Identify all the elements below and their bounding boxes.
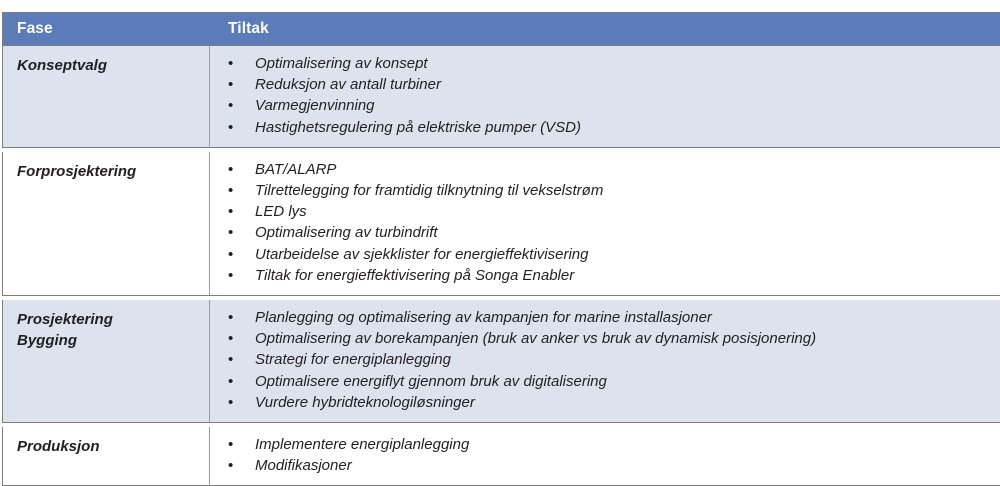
list-item: •Modifikasjoner: [223, 455, 1000, 476]
list-item: •Optimalisere energiflyt gjennom bruk av…: [223, 371, 1000, 392]
measure-text: Tilrettelegging for framtidig tilknytnin…: [255, 182, 603, 199]
bullet-icon: •: [228, 159, 233, 180]
measure-text: Utarbeidelse av sjekklister for energief…: [255, 246, 588, 263]
phase-label: Produksjon: [17, 436, 203, 457]
phase-label: Konseptvalg: [17, 55, 203, 76]
list-item: •Hastighetsregulering på elektriske pump…: [223, 117, 1000, 138]
bullet-icon: •: [228, 53, 233, 74]
measure-text: Hastighetsregulering på elektriske pumpe…: [255, 119, 581, 136]
measure-text: Optimalisering av borekampanjen (bruk av…: [255, 330, 816, 347]
bullet-icon: •: [228, 371, 233, 392]
cell-phase: Produksjon: [2, 427, 210, 486]
list-item: •Varmegjenvinning: [223, 95, 1000, 116]
measure-text: Vurdere hybridteknologiløsninger: [255, 394, 475, 411]
cell-measures: •BAT/ALARP•Tilrettelegging for framtidig…: [210, 152, 1000, 296]
phase-measures-table-wrapper: Fase Tiltak Konseptvalg•Optimalisering a…: [2, 12, 991, 486]
phase-label: Prosjektering Bygging: [17, 309, 203, 351]
bullet-icon: •: [228, 180, 233, 201]
measure-text: Implementere energiplanlegging: [255, 436, 469, 453]
bullet-icon: •: [228, 328, 233, 349]
phase-measures-table: Fase Tiltak Konseptvalg•Optimalisering a…: [2, 12, 1000, 486]
bullet-icon: •: [228, 244, 233, 265]
bullet-icon: •: [228, 95, 233, 116]
table-row: Produksjon•Implementere energiplanleggin…: [2, 427, 1000, 486]
bullet-icon: •: [228, 117, 233, 138]
list-item: •Optimalisering av borekampanjen (bruk a…: [223, 328, 1000, 349]
table-row: Forprosjektering•BAT/ALARP•Tilretteleggi…: [2, 152, 1000, 296]
list-item: •Optimalisering av turbindrift: [223, 222, 1000, 243]
measure-text: BAT/ALARP: [255, 161, 336, 178]
bullet-icon: •: [228, 349, 233, 370]
list-item: •Reduksjon av antall turbiner: [223, 74, 1000, 95]
bullet-icon: •: [228, 392, 233, 413]
bullet-icon: •: [228, 434, 233, 455]
list-item: •Tiltak for energieffektivisering på Son…: [223, 265, 1000, 286]
cell-measures: •Planlegging og optimalisering av kampan…: [210, 300, 1000, 423]
bullet-icon: •: [228, 455, 233, 476]
cell-phase: Prosjektering Bygging: [2, 300, 210, 423]
cell-phase: Konseptvalg: [2, 46, 210, 148]
measure-text: Optimalisering av konsept: [255, 55, 428, 72]
list-item: •Utarbeidelse av sjekklister for energie…: [223, 244, 1000, 265]
cell-phase: Forprosjektering: [2, 152, 210, 296]
column-header-fase: Fase: [2, 12, 210, 46]
cell-measures: •Optimalisering av konsept•Reduksjon av …: [210, 46, 1000, 148]
measure-text: Strategi for energiplanlegging: [255, 351, 451, 368]
measures-list: •Optimalisering av konsept•Reduksjon av …: [223, 53, 1000, 138]
measure-text: Varmegjenvinning: [255, 97, 375, 114]
list-item: •Optimalisering av konsept: [223, 53, 1000, 74]
list-item: •Implementere energiplanlegging: [223, 434, 1000, 455]
measure-text: LED lys: [255, 203, 307, 220]
table-row: Prosjektering Bygging•Planlegging og opt…: [2, 300, 1000, 423]
measure-text: Optimalisering av turbindrift: [255, 224, 438, 241]
table-header: Fase Tiltak: [2, 12, 1000, 46]
measure-text: Reduksjon av antall turbiner: [255, 76, 441, 93]
list-item: •Vurdere hybridteknologiløsninger: [223, 392, 1000, 413]
table-row: Konseptvalg•Optimalisering av konsept•Re…: [2, 46, 1000, 148]
measures-list: •Planlegging og optimalisering av kampan…: [223, 307, 1000, 413]
list-item: •LED lys: [223, 201, 1000, 222]
measures-list: •Implementere energiplanlegging•Modifika…: [223, 434, 1000, 476]
cell-measures: •Implementere energiplanlegging•Modifika…: [210, 427, 1000, 486]
bullet-icon: •: [228, 74, 233, 95]
bullet-icon: •: [228, 201, 233, 222]
column-header-tiltak: Tiltak: [210, 12, 1000, 46]
table-header-row: Fase Tiltak: [2, 12, 1000, 46]
measure-text: Optimalisere energiflyt gjennom bruk av …: [255, 373, 607, 390]
table-body: Konseptvalg•Optimalisering av konsept•Re…: [2, 46, 1000, 486]
bullet-icon: •: [228, 265, 233, 286]
list-item: •BAT/ALARP: [223, 159, 1000, 180]
list-item: •Planlegging og optimalisering av kampan…: [223, 307, 1000, 328]
bullet-icon: •: [228, 307, 233, 328]
list-item: •Tilrettelegging for framtidig tilknytni…: [223, 180, 1000, 201]
phase-label: Forprosjektering: [17, 161, 203, 182]
measures-list: •BAT/ALARP•Tilrettelegging for framtidig…: [223, 159, 1000, 286]
bullet-icon: •: [228, 222, 233, 243]
measure-text: Planlegging og optimalisering av kampanj…: [255, 309, 712, 326]
measure-text: Tiltak for energieffektivisering på Song…: [255, 267, 574, 284]
list-item: •Strategi for energiplanlegging: [223, 349, 1000, 370]
